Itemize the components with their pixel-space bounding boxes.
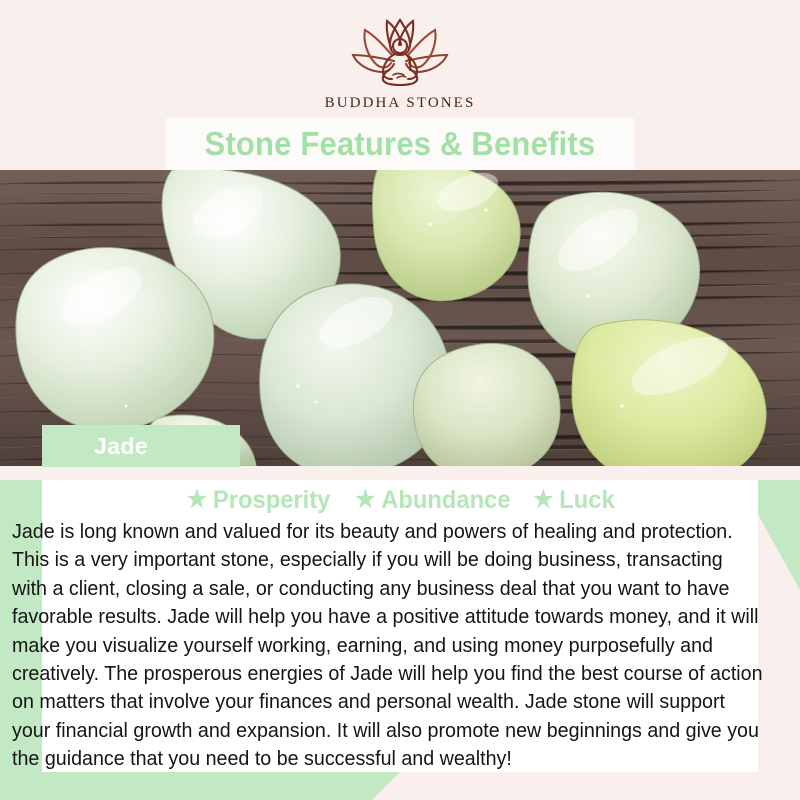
keyword-label: Prosperity <box>213 486 330 515</box>
keyword-label: Luck <box>560 486 615 515</box>
decor-green-bottom-bar <box>0 772 400 800</box>
stone-description: Jade is long known and valued for its be… <box>12 518 763 774</box>
star-icon: ★ <box>534 488 554 512</box>
keyword-label: Abundance <box>381 486 510 515</box>
keyword-abundance: ★ Abundance <box>355 486 510 515</box>
divider-band <box>0 466 800 480</box>
brand-logo: BUDDHA STONES <box>325 14 476 112</box>
jade-stones-photo <box>0 170 800 466</box>
keyword-luck: ★ Luck <box>534 486 616 515</box>
brand-header: BUDDHA STONES <box>0 0 800 118</box>
page-title: Stone Features & Benefits <box>205 125 596 163</box>
star-icon: ★ <box>355 488 375 512</box>
content-panel: ★ Prosperity ★ Abundance ★ Luck Jade is … <box>42 480 758 772</box>
stone-name-label: Jade <box>42 425 240 467</box>
infographic-page: BUDDHA STONES <box>0 0 800 800</box>
title-banner: Stone Features & Benefits <box>166 118 634 170</box>
lotus-meditation-icon <box>331 14 469 91</box>
brand-name: BUDDHA STONES <box>325 95 476 112</box>
stone-name-text: Jade <box>94 433 148 460</box>
keyword-prosperity: ★ Prosperity <box>186 486 330 515</box>
keyword-row: ★ Prosperity ★ Abundance ★ Luck <box>42 482 758 518</box>
star-icon: ★ <box>186 488 206 512</box>
